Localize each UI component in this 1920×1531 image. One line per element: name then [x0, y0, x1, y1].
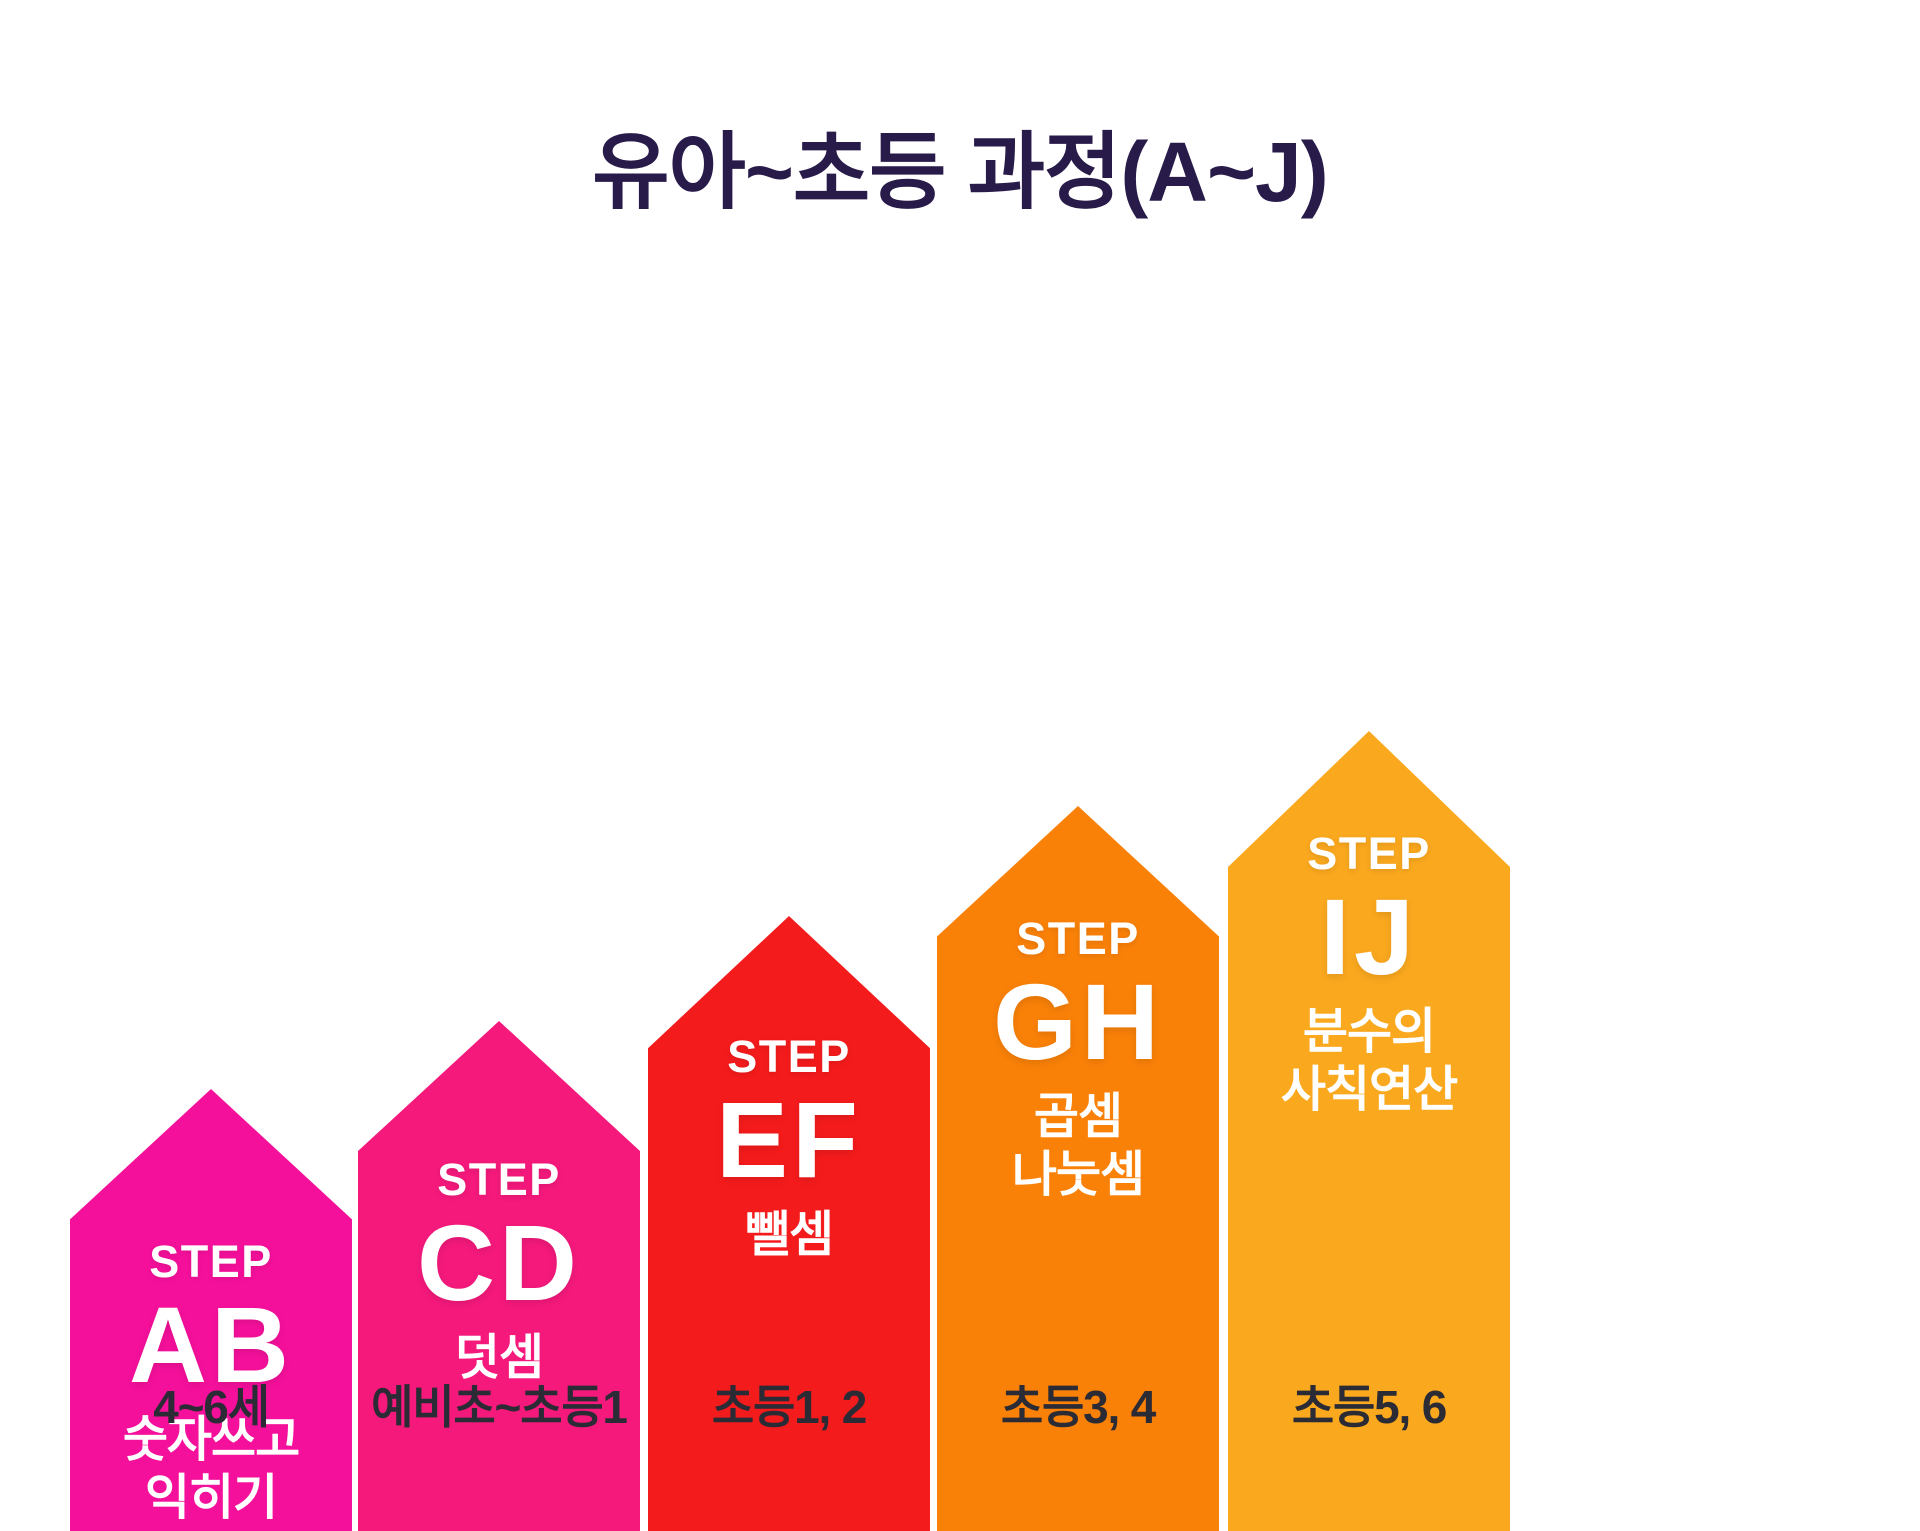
- infographic-canvas: 유아~초등 과정(A~J) STEP AB 숫자쓰고 익히기 STEP CD 덧…: [0, 0, 1920, 1531]
- step-chart: STEP AB 숫자쓰고 익히기 STEP CD 덧셈 STEP E: [0, 0, 1920, 1531]
- step-word-ij: STEP: [1307, 831, 1431, 876]
- step-desc-gh: 곱셈 나눗셈: [1012, 1089, 1144, 1205]
- caption-cd: 예비초~초등1: [338, 1371, 660, 1437]
- caption-ij: 초등5, 6: [1228, 1371, 1510, 1437]
- step-letters-ij: IJ: [1320, 882, 1418, 992]
- step-letters-ef: EF: [716, 1085, 862, 1195]
- caption-ab: 4~6세: [70, 1371, 352, 1437]
- step-column-ef: STEP EF 뺄셈: [648, 916, 930, 1531]
- step-column-ab: STEP AB 숫자쓰고 익히기: [70, 1089, 352, 1531]
- step-word-gh: STEP: [1016, 916, 1140, 961]
- step-word-ab: STEP: [149, 1239, 273, 1284]
- step-column-cd: STEP CD 덧셈: [358, 1021, 640, 1531]
- step-word-ef: STEP: [727, 1034, 851, 1079]
- step-arrow-cd[interactable]: STEP CD 덧셈: [358, 1021, 640, 1531]
- step-arrow-ab[interactable]: STEP AB 숫자쓰고 익히기: [70, 1089, 352, 1531]
- step-word-cd: STEP: [437, 1157, 561, 1202]
- caption-gh: 초등3, 4: [937, 1371, 1219, 1437]
- step-desc-ef: 뺄셈: [745, 1207, 833, 1265]
- step-desc-ij: 분수의 사칙연산: [1281, 1004, 1457, 1120]
- step-arrow-ef[interactable]: STEP EF 뺄셈: [648, 916, 930, 1531]
- step-letters-cd: CD: [417, 1208, 581, 1318]
- step-letters-gh: GH: [993, 967, 1163, 1077]
- caption-ef: 초등1, 2: [648, 1371, 930, 1437]
